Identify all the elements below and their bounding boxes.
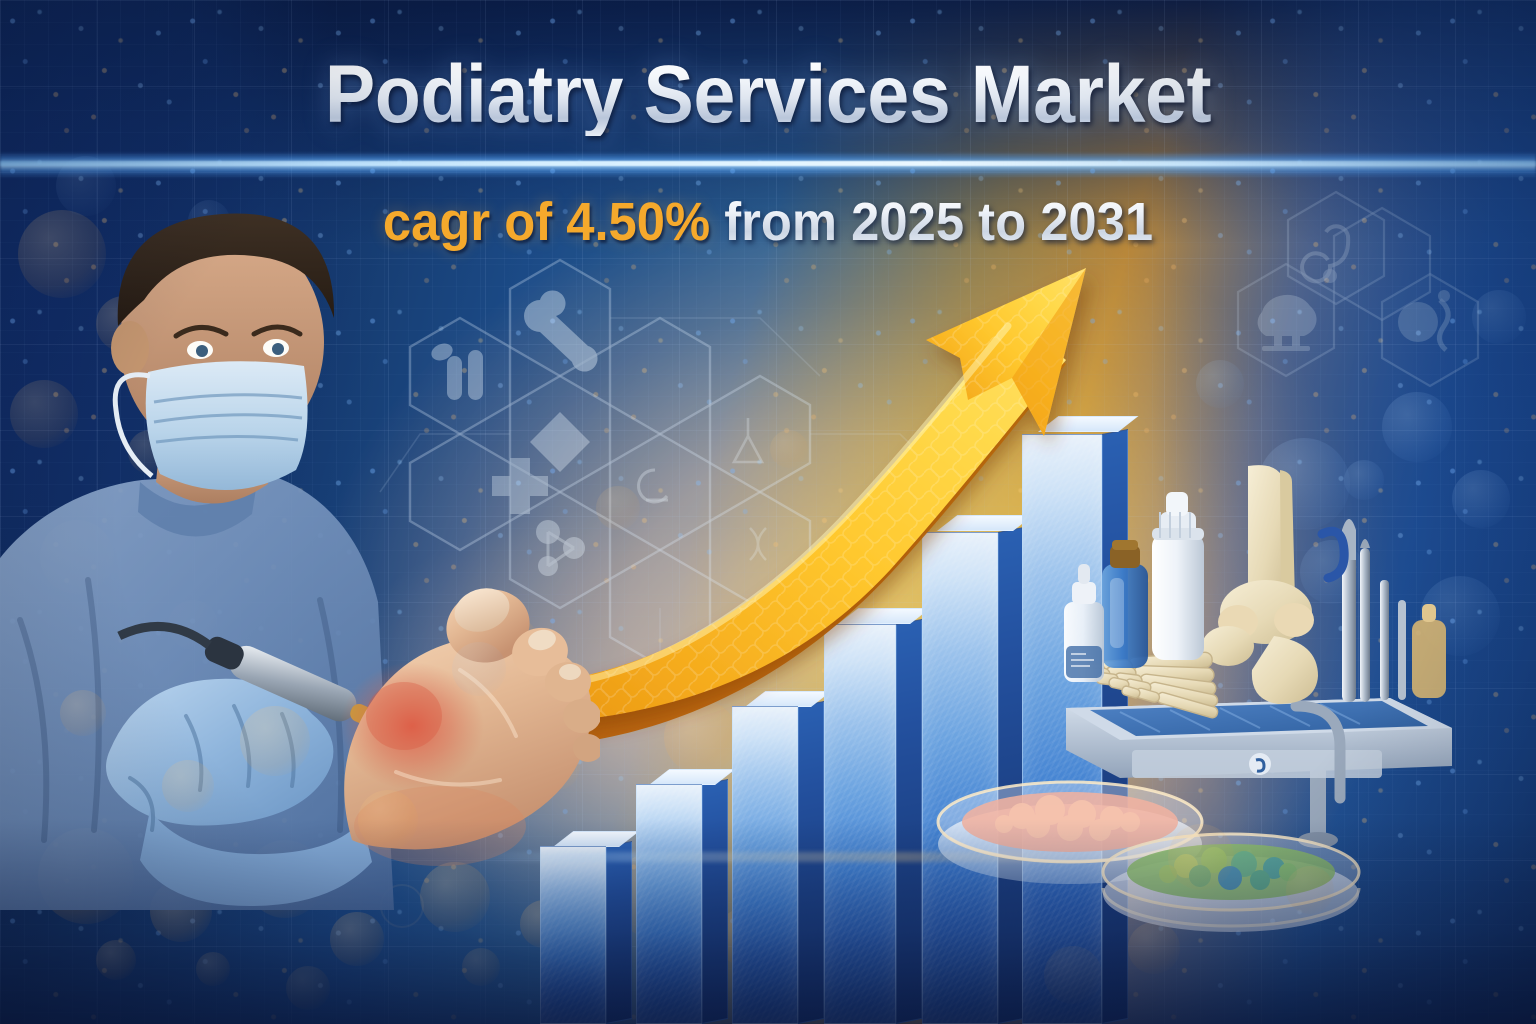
- vignette: [0, 0, 1536, 1024]
- market-banner: Podiatry Services Market cagr of 4.50% f…: [0, 0, 1536, 1024]
